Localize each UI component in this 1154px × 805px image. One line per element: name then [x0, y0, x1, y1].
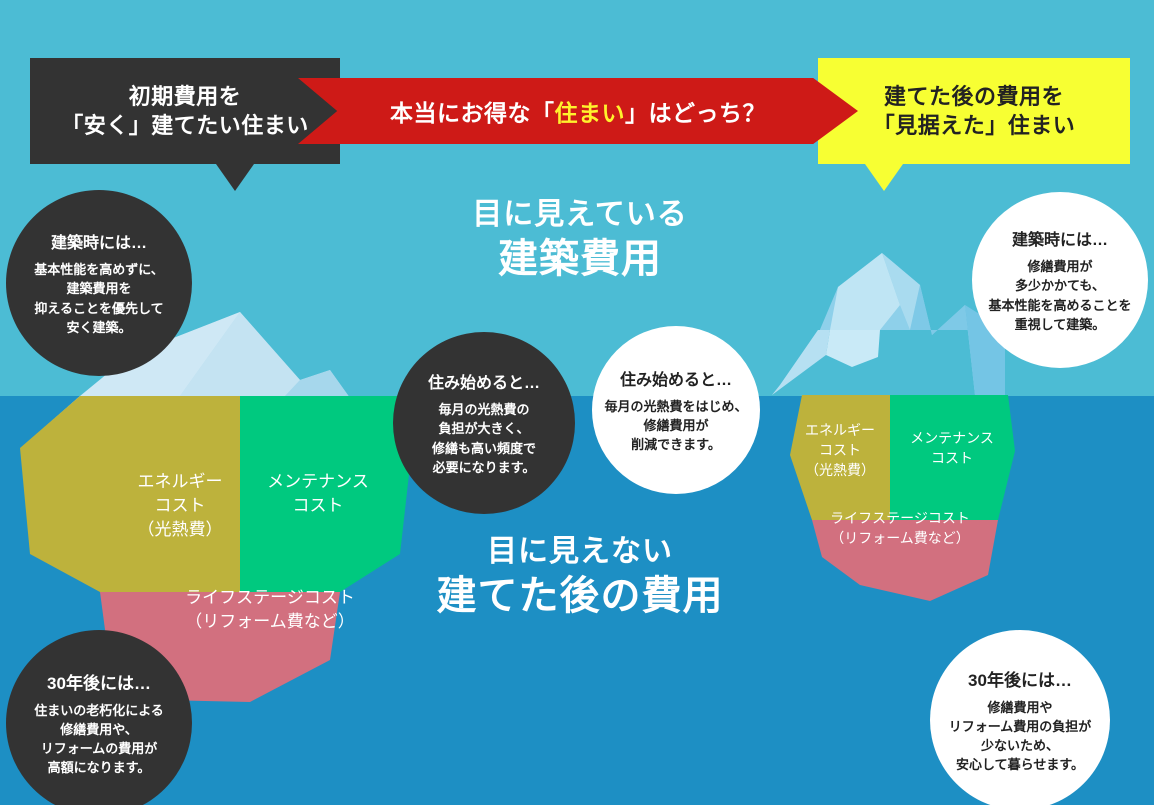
callout-right-living: 住み始めると… 毎月の光熱費をはじめ、 修繕費用が 削減できます。 [592, 326, 760, 494]
callout-right-build: 建築時には… 修繕費用が 多少かかても、 基本性能を高めることを 重視して建築。 [972, 192, 1148, 368]
callout-right-30years-title: 30年後には… [968, 666, 1072, 691]
title-hidden-cost: 目に見えない 建てた後の費用 [395, 533, 765, 623]
callout-left-living-title: 住み始めると… [428, 369, 540, 393]
header-center-banner: 本当にお得な「住まい」はどっち？ [298, 78, 858, 144]
callout-right-living-body: 毎月の光熱費をはじめ、 修繕費用が 削減できます。 [604, 397, 747, 455]
header-right-box: 建てた後の費用を 「見据えた」住まい [818, 58, 1130, 164]
callout-left-30years-title: 30年後には… [47, 669, 151, 694]
callout-left-living: 住み始めると… 毎月の光熱費の 負担が大きく、 修繕も高い頻度で 必要になります… [393, 332, 575, 514]
callout-left-build-body: 基本性能を高めずに、 建築費用を 抑えることを優先して 安く建築。 [34, 260, 164, 337]
title-hidden-cost-line2: 建てた後の費用 [395, 571, 765, 622]
callout-right-build-title: 建築時には… [1012, 226, 1108, 250]
callout-right-build-body: 修繕費用が 多少かかても、 基本性能を高めることを 重視して建築。 [988, 257, 1131, 334]
infographic-canvas: エネルギー コスト （光熱費） メンテナンス コスト ライフステージコスト （リ… [0, 0, 1154, 805]
callout-left-30years: 30年後には… 住まいの老朽化による 修繕費用や、 リフォームの費用が 高額にな… [6, 630, 192, 805]
callout-left-30years-body: 住まいの老朽化による 修繕費用や、 リフォームの費用が 高額になります。 [34, 701, 164, 778]
callout-left-build-title: 建築時には… [51, 229, 147, 253]
callout-left-build: 建築時には… 基本性能を高めずに、 建築費用を 抑えることを優先して 安く建築。 [6, 190, 192, 376]
title-hidden-cost-line1: 目に見えない [395, 533, 765, 571]
callout-right-30years: 30年後には… 修繕費用や リフォーム費用の負担が 少ないため、 安心して暮らせ… [930, 630, 1110, 805]
title-visible-cost: 目に見えている 建築費用 [395, 196, 765, 286]
callout-right-30years-body: 修繕費用や リフォーム費用の負担が 少ないため、 安心して暮らせます。 [949, 698, 1092, 775]
title-visible-cost-line2: 建築費用 [395, 234, 765, 285]
callout-right-living-title: 住み始めると… [620, 366, 732, 390]
callout-left-living-body: 毎月の光熱費の 負担が大きく、 修繕も高い頻度で 必要になります。 [432, 400, 536, 477]
banner-text-highlight: 住まい [555, 94, 626, 128]
banner-text-after: 」はどっち？ [625, 94, 766, 128]
header-left-box: 初期費用を 「安く」建てたい住まい [30, 58, 340, 164]
header-left-box-pointer [216, 164, 254, 191]
header-right-box-pointer [865, 164, 903, 191]
title-visible-cost-line1: 目に見えている [395, 196, 765, 234]
banner-text-before: 本当にお得な「 [390, 94, 555, 128]
